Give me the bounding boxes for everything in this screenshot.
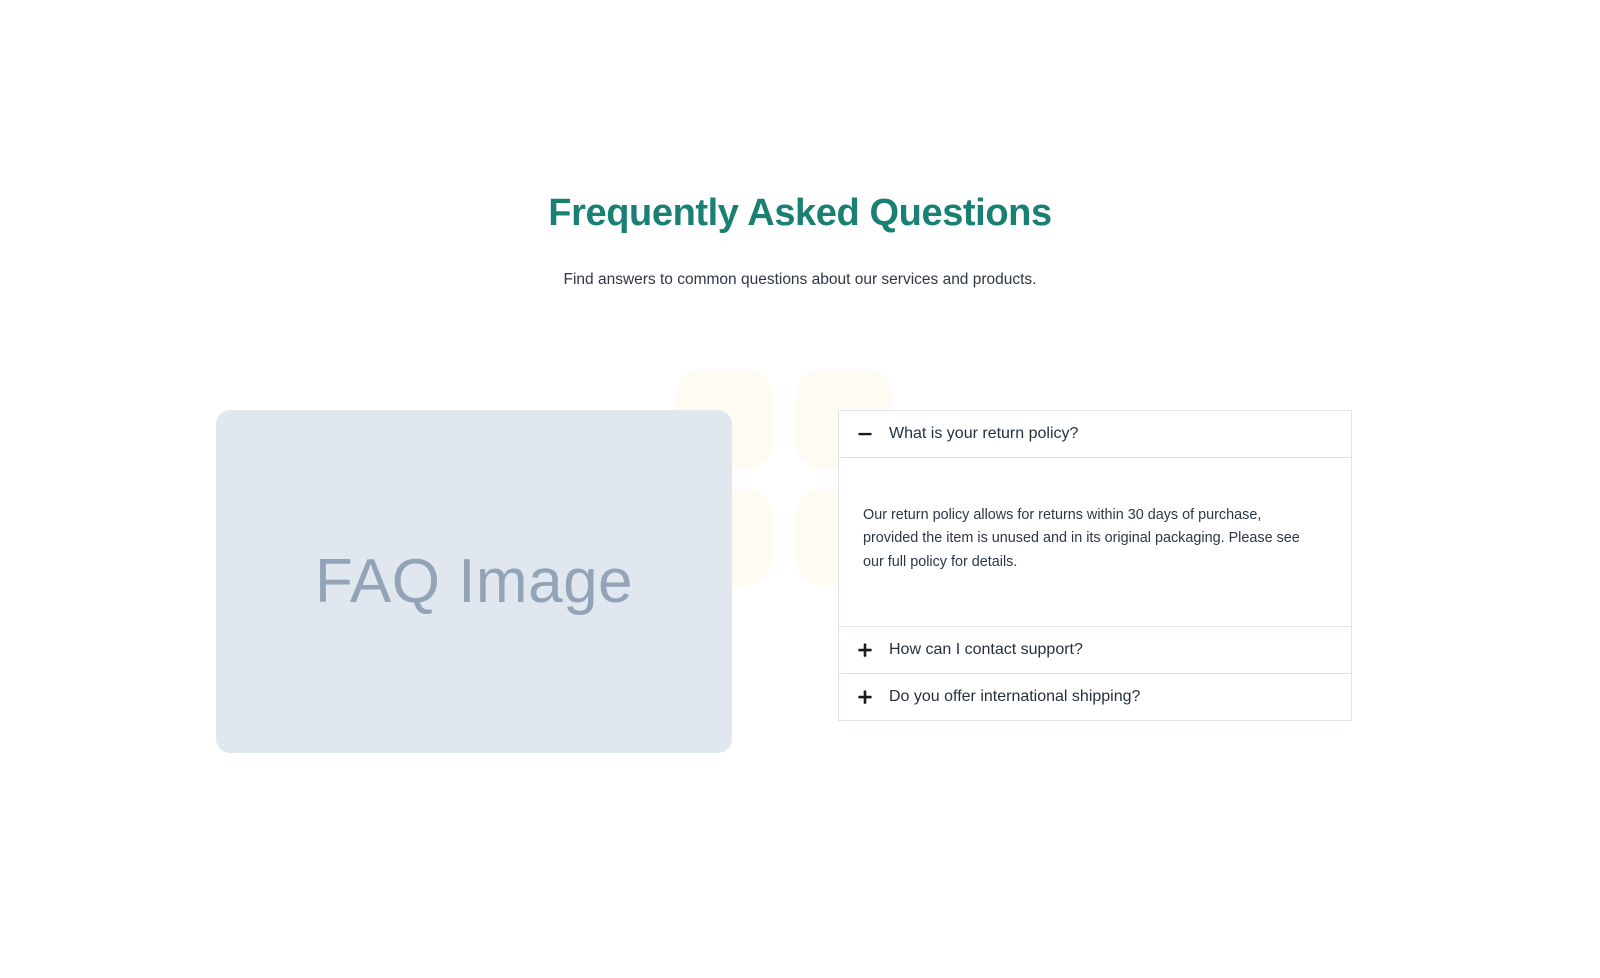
accordion-item: How can I contact support?	[839, 626, 1351, 673]
accordion-question-1: How can I contact support?	[889, 640, 1083, 659]
accordion-question-0: What is your return policy?	[889, 424, 1078, 443]
faq-page: Frequently Asked Questions Find answers …	[0, 0, 1600, 978]
accordion-question-2: Do you offer international shipping?	[889, 687, 1140, 706]
faq-image-label: FAQ Image	[315, 551, 633, 613]
faq-accordion: What is your return policy? Our return p…	[838, 410, 1352, 721]
plus-icon	[855, 689, 875, 705]
accordion-item: What is your return policy? Our return p…	[839, 411, 1351, 626]
accordion-panel-0: Our return policy allows for returns wit…	[839, 457, 1351, 626]
accordion-header-0[interactable]: What is your return policy?	[839, 411, 1351, 457]
accordion-item: Do you offer international shipping?	[839, 673, 1351, 720]
faq-image-placeholder: FAQ Image	[216, 410, 732, 753]
plus-icon	[855, 642, 875, 658]
accordion-answer-0: Our return policy allows for returns wit…	[863, 504, 1315, 574]
faq-content: FAQ Image What is your return policy? Ou…	[0, 0, 1600, 978]
minus-icon	[855, 426, 875, 442]
accordion-header-2[interactable]: Do you offer international shipping?	[839, 674, 1351, 720]
accordion-header-1[interactable]: How can I contact support?	[839, 627, 1351, 673]
